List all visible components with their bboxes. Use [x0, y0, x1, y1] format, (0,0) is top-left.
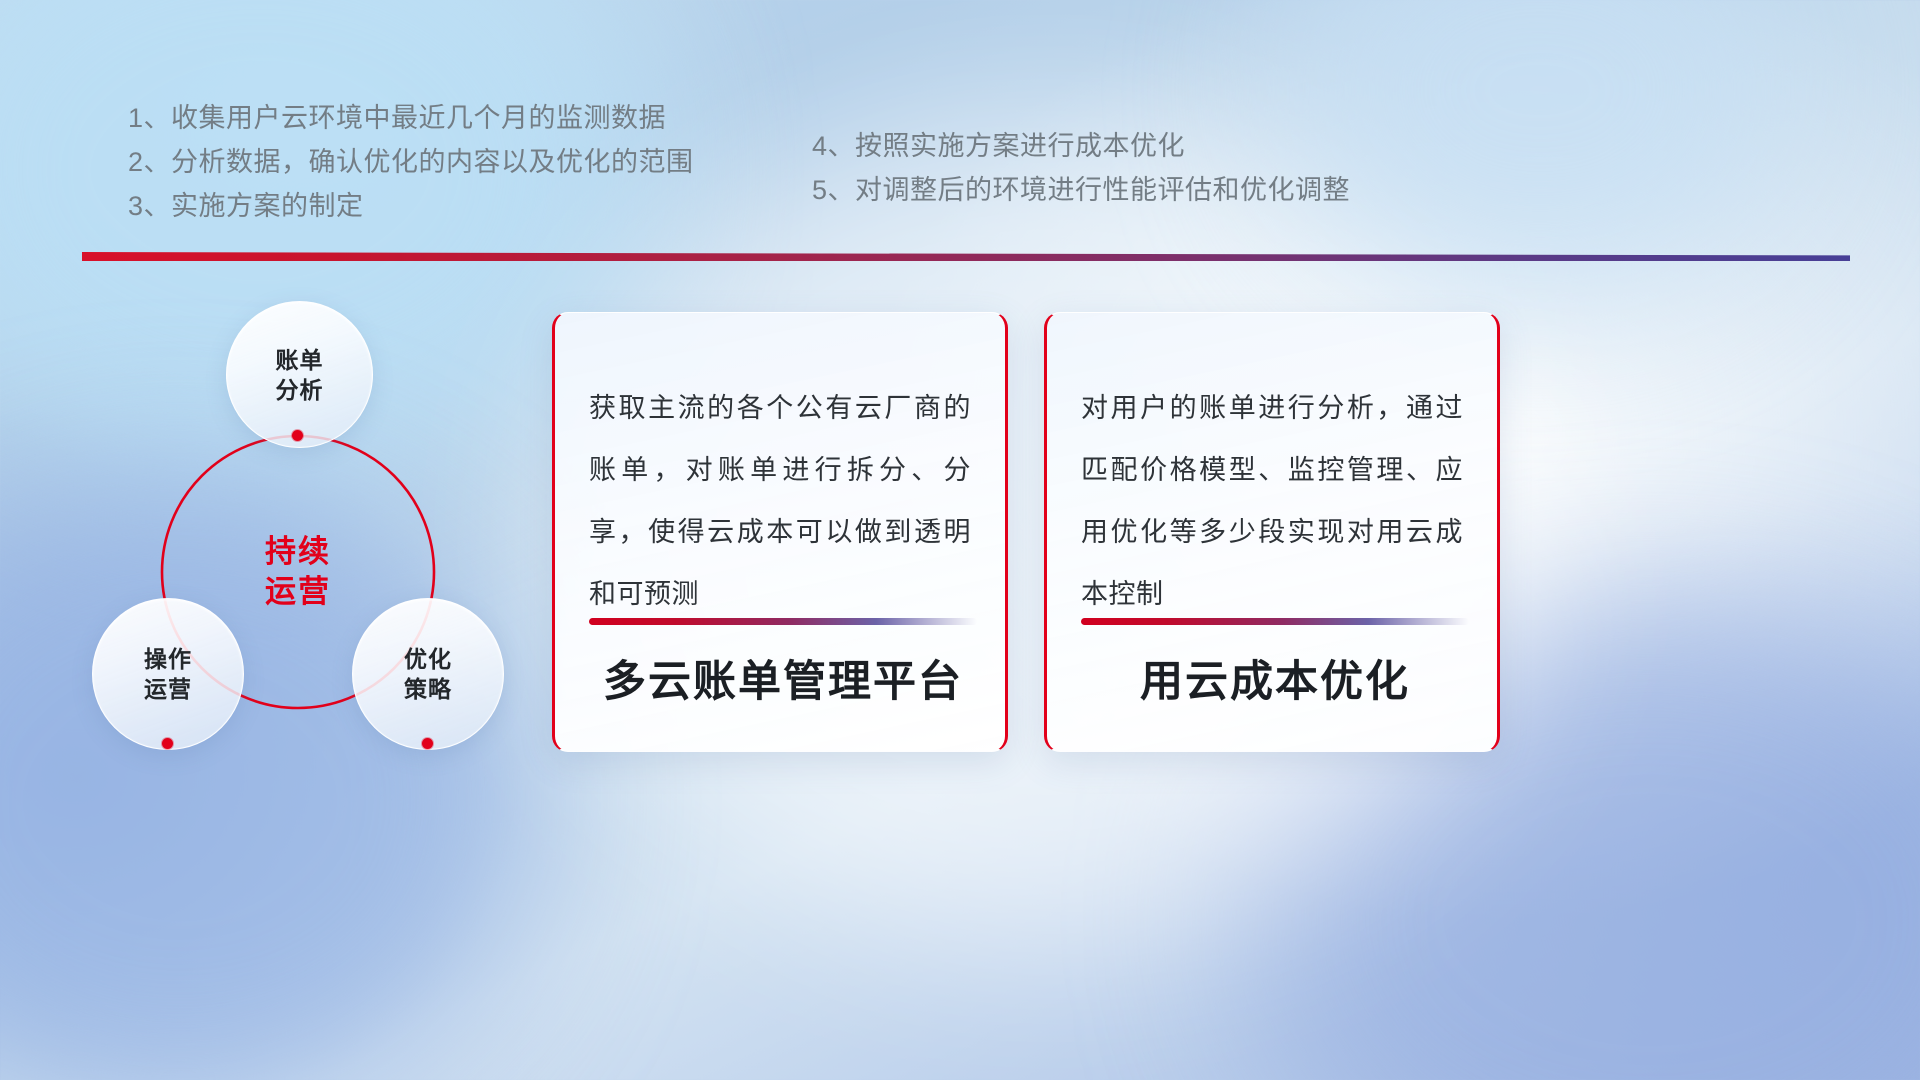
feature-card-bill-platform-body: 获取主流的各个公有云厂商的账单，对账单进行拆分、分享，使得云成本可以做到透明和可…: [589, 377, 971, 625]
venn-label-line-2: 分析: [276, 377, 324, 403]
feature-card-cost-optimization-title: 用云成本优化: [1081, 647, 1469, 709]
step-item-3: 3、实施方案的制定: [128, 184, 694, 228]
steps-list-right-column: 4、按照实施方案进行成本优化 5、对调整后的环境进行性能评估和优化调整: [812, 124, 1350, 212]
section-divider-bar: [82, 252, 1850, 261]
feature-card-cost-optimization-body: 对用户的账单进行分析，通过匹配价格模型、监控管理、应用优化等多少段实现对用云成本…: [1081, 377, 1463, 625]
step-item-1: 1、收集用户云环境中最近几个月的监测数据: [128, 96, 694, 140]
step-item-5: 5、对调整后的环境进行性能评估和优化调整: [812, 168, 1350, 212]
feature-card-cost-optimization-rule: [1081, 618, 1469, 625]
feature-card-bill-platform[interactable]: 获取主流的各个公有云厂商的账单，对账单进行拆分、分享，使得云成本可以做到透明和可…: [552, 312, 1008, 752]
venn-label-line-1: 账单: [276, 347, 324, 373]
venn-diagram: 账单 分析 操作 运营 优化 策略 持续 运营: [80, 288, 550, 778]
steps-list-section: 1、收集用户云环境中最近几个月的监测数据 2、分析数据，确认优化的内容以及优化的…: [0, 0, 1920, 250]
steps-list-left-column: 1、收集用户云环境中最近几个月的监测数据 2、分析数据，确认优化的内容以及优化的…: [128, 96, 694, 228]
venn-center-line-1: 持续: [265, 534, 331, 569]
feature-card-bill-platform-rule: [589, 618, 977, 625]
venn-node-dot-left: [162, 738, 173, 749]
venn-node-dot-right: [422, 738, 433, 749]
venn-circle-billing-analysis-label: 账单 分析: [276, 345, 324, 405]
venn-center-line-2: 运营: [265, 574, 331, 609]
step-item-2: 2、分析数据，确认优化的内容以及优化的范围: [128, 140, 694, 184]
feature-card-bill-platform-title: 多云账单管理平台: [589, 647, 977, 709]
venn-node-dot-top: [292, 430, 303, 441]
venn-center-label: 持续 运营: [265, 532, 331, 612]
venn-center-label-wrap: 持续 运营: [162, 436, 434, 708]
section-divider: [82, 252, 1850, 266]
feature-card-cost-optimization[interactable]: 对用户的账单进行分析，通过匹配价格模型、监控管理、应用优化等多少段实现对用云成本…: [1044, 312, 1500, 752]
venn-circle-billing-analysis[interactable]: 账单 分析: [226, 301, 373, 448]
step-item-4: 4、按照实施方案进行成本优化: [812, 124, 1350, 168]
